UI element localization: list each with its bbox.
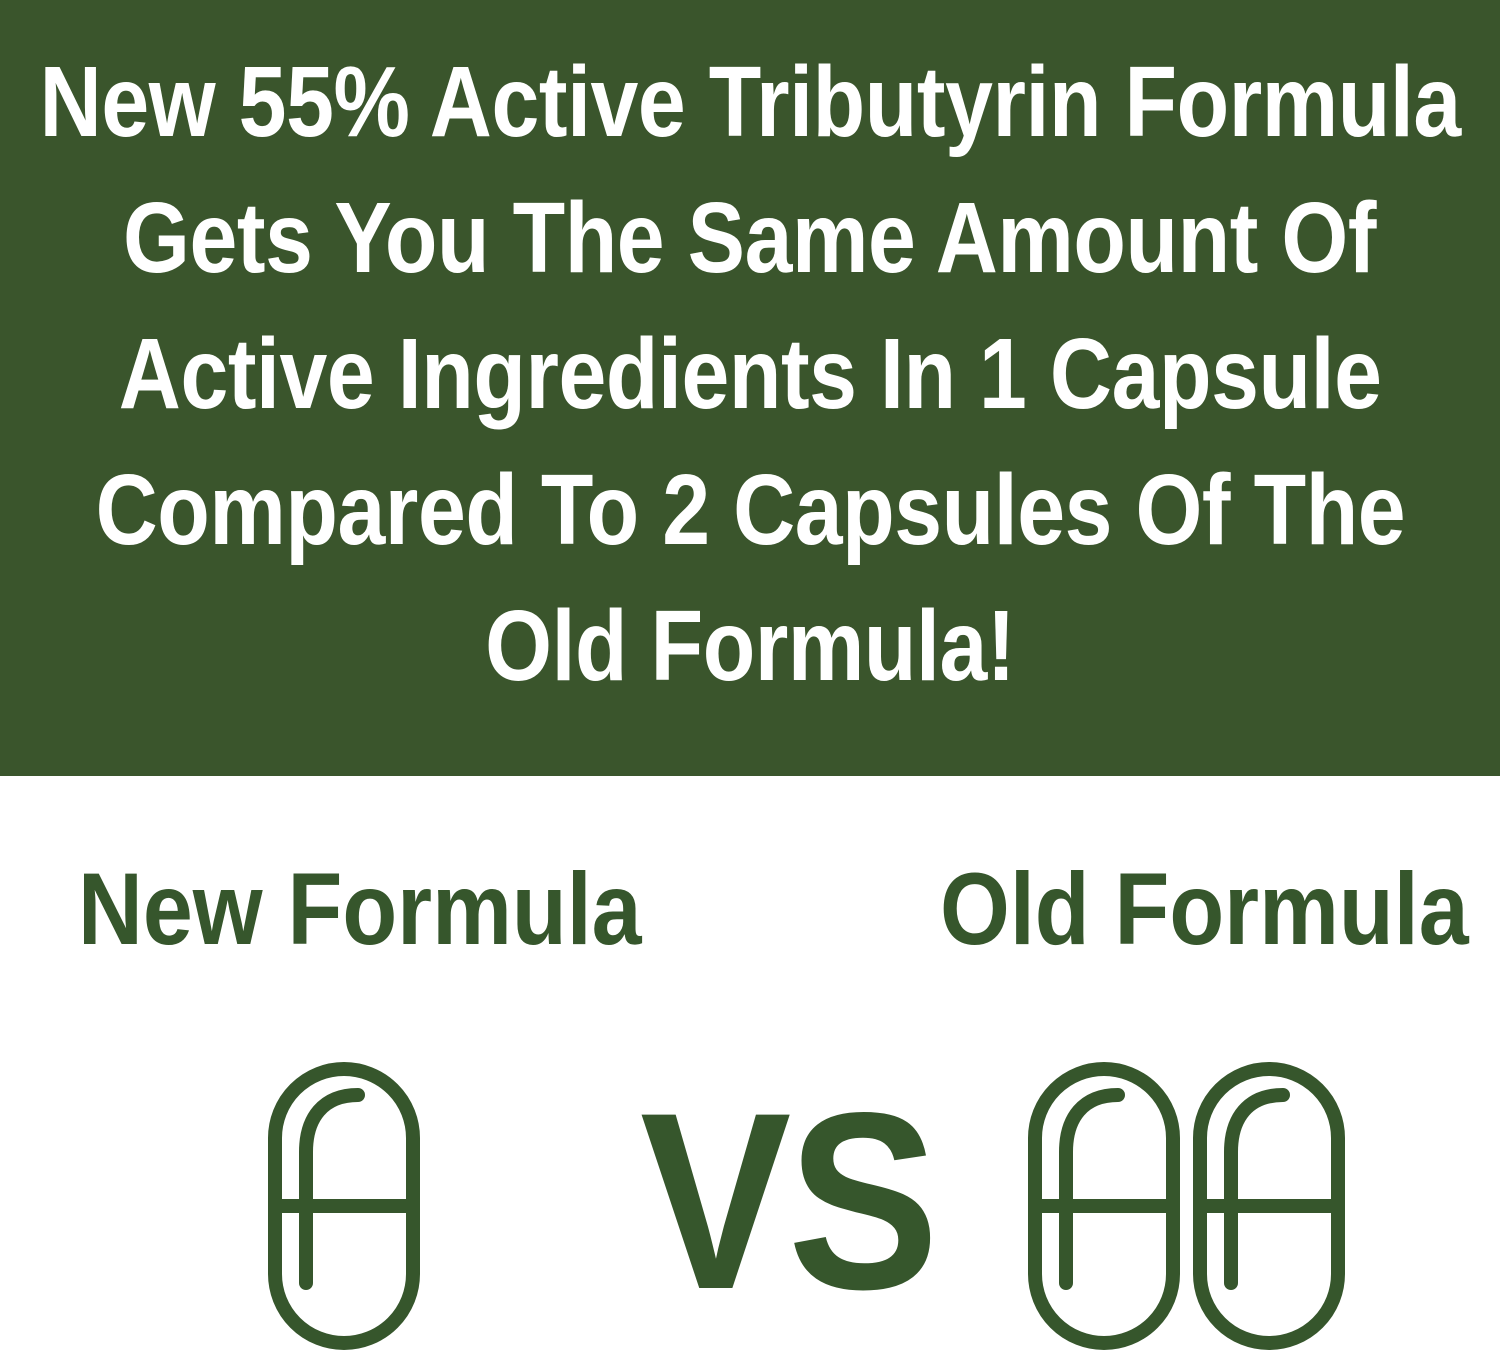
headline-line-1: New 55% Active Tributyrin Formula [39,34,1460,170]
headline-line-2: Gets You The Same Amount Of [123,170,1376,306]
capsule-icon [268,1062,420,1350]
promo-graphic: New 55% Active Tributyrin Formula Gets Y… [0,0,1500,1357]
versus-label: VS [640,1088,935,1316]
headline-line-3: Active Ingredients In 1 Capsule [119,306,1382,442]
capsule-comparison-row: VS [0,776,1500,1357]
capsule-icon [1193,1062,1345,1350]
capsule-icon [1028,1062,1180,1350]
headline-banner: New 55% Active Tributyrin Formula Gets Y… [0,0,1500,776]
headline-line-5: Old Formula! [485,578,1015,714]
headline-line-4: Compared To 2 Capsules Of The [95,442,1405,578]
comparison-section: New Formula Old Formula VS [0,776,1500,1357]
